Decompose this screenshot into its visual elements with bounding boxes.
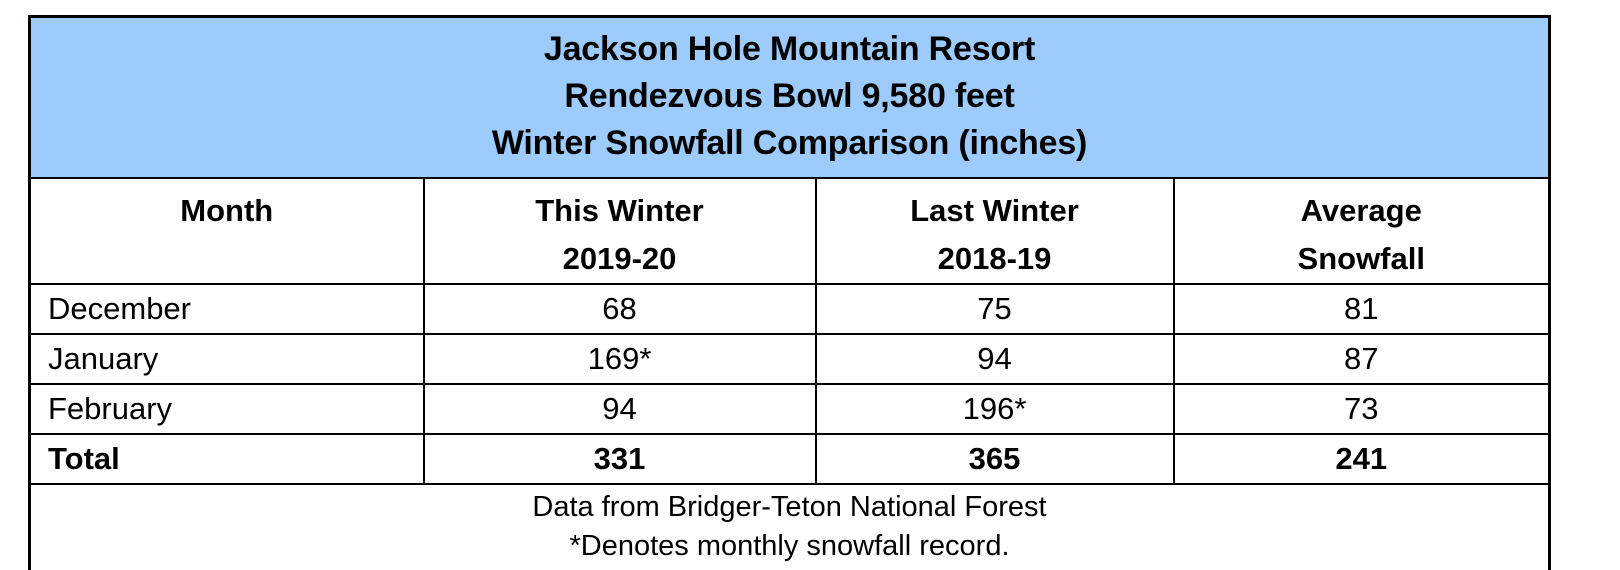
cell-last-winter-february: 196*: [816, 384, 1174, 434]
cell-average-december: 81: [1174, 284, 1550, 334]
cell-total-average: 241: [1174, 434, 1550, 484]
column-header-average-main: Average: [1301, 193, 1422, 228]
title-line-2: Rendezvous Bowl 9,580 feet: [41, 73, 1538, 120]
table-row: January 169* 94 87: [30, 334, 1550, 384]
table-footer-row: Data from Bridger-Teton National Forest …: [30, 484, 1550, 570]
cell-total-this-winter: 331: [424, 434, 816, 484]
cell-average-january: 87: [1174, 334, 1550, 384]
snowfall-comparison-table: Jackson Hole Mountain Resort Rendezvous …: [28, 15, 1551, 570]
column-header-this-winter-main: This Winter: [535, 193, 704, 228]
cell-month-january: January: [30, 334, 424, 384]
table-row: December 68 75 81: [30, 284, 1550, 334]
cell-month-february: February: [30, 384, 424, 434]
table-footnote-cell: Data from Bridger-Teton National Forest …: [30, 484, 1550, 570]
cell-last-winter-december: 75: [816, 284, 1174, 334]
screenshot-root: Jackson Hole Mountain Resort Rendezvous …: [0, 0, 1620, 570]
cell-last-winter-january: 94: [816, 334, 1174, 384]
cell-this-winter-january: 169*: [424, 334, 816, 384]
table-title-row: Jackson Hole Mountain Resort Rendezvous …: [30, 17, 1550, 179]
table-total-row: Total 331 365 241: [30, 434, 1550, 484]
title-line-3: Winter Snowfall Comparison (inches): [41, 120, 1538, 167]
cell-this-winter-december: 68: [424, 284, 816, 334]
table-row: February 94 196* 73: [30, 384, 1550, 434]
cell-month-december: December: [30, 284, 424, 334]
cell-this-winter-february: 94: [424, 384, 816, 434]
cell-total-label: Total: [30, 434, 424, 484]
column-header-this-winter: This Winter 2019-20: [424, 178, 816, 284]
column-header-last-winter-sub: 2018-19: [821, 235, 1169, 283]
title-line-1: Jackson Hole Mountain Resort: [41, 26, 1538, 73]
column-header-row: Month This Winter 2019-20 Last Winter 20…: [30, 178, 1550, 284]
column-header-average-sub: Snowfall: [1179, 235, 1545, 283]
column-header-month: Month: [30, 178, 424, 284]
column-header-month-main: Month: [180, 193, 273, 228]
cell-average-february: 73: [1174, 384, 1550, 434]
column-header-average: Average Snowfall: [1174, 178, 1550, 284]
column-header-last-winter: Last Winter 2018-19: [816, 178, 1174, 284]
column-header-this-winter-sub: 2019-20: [429, 235, 811, 283]
column-header-last-winter-main: Last Winter: [910, 193, 1079, 228]
footnote-asterisk: *Denotes monthly snowfall record.: [37, 527, 1542, 566]
cell-total-last-winter: 365: [816, 434, 1174, 484]
footnote-source: Data from Bridger-Teton National Forest: [37, 488, 1542, 527]
table-title-cell: Jackson Hole Mountain Resort Rendezvous …: [30, 17, 1550, 179]
